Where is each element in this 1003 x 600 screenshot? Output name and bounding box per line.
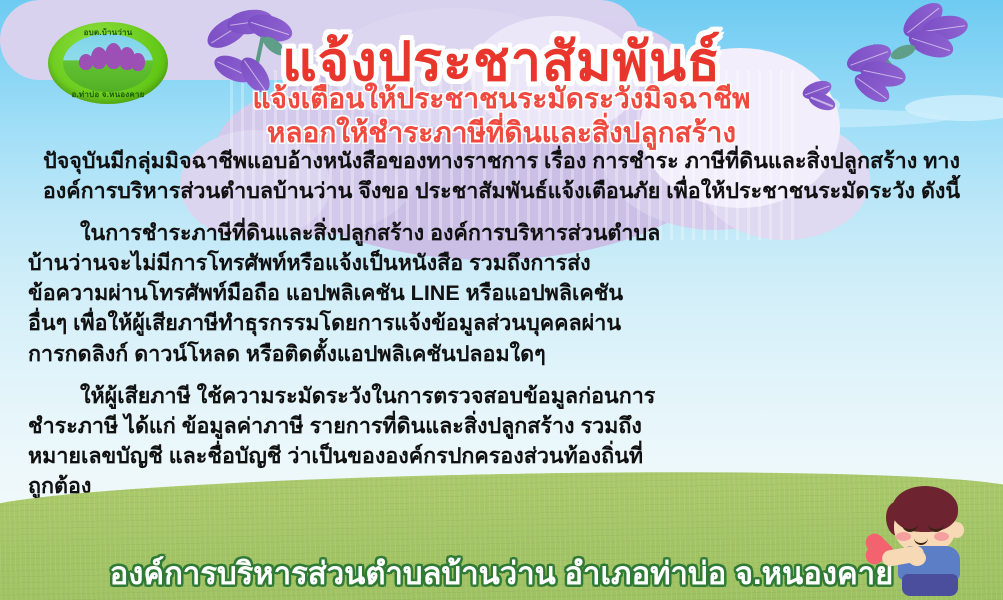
- poster-subtitle: แจ้งเตือนให้ประชาชนระมัดระวังมิจฉาชีพ หล…: [0, 82, 1003, 150]
- mascot-character: [868, 484, 996, 596]
- paragraph-2-line-5: การกดลิงก์ ดาวน์โหลด หรือติดตั้งแอปพลิเค…: [28, 339, 975, 369]
- mascot-cheek: [896, 532, 911, 541]
- paragraph-2-line-2: บ้านว่านจะไม่มีการโทรศัพท์หรือแจ้งเป็นหน…: [28, 248, 975, 278]
- paragraph-1-line-1: ปัจจุบันมีกลุ่มมิจฉาชีพแอบอ้างหนังสือของ…: [43, 149, 679, 173]
- paragraph-1: ปัจจุบันมีกลุ่มมิจฉาชีพแอบอ้างหนังสือของ…: [28, 146, 975, 206]
- paragraph-1-line-3: ประชาสัมพันธ์แจ้งเตือนภัย เพื่อให้ประชาช…: [415, 179, 960, 203]
- footer-organization-name: องค์การบริหารส่วนตำบลบ้านว่าน อำเภอท่าบ่…: [0, 548, 1003, 598]
- mascot-pants: [902, 574, 958, 596]
- subtitle-line-1: แจ้งเตือนให้ประชาชนระมัดระวังมิจฉาชีพ: [0, 82, 1003, 116]
- paragraph-2: ในการชำระภาษีที่ดินและสิ่งปลูกสร้าง องค์…: [28, 218, 975, 368]
- paragraph-3-line-2: ชำระภาษี ได้แก่ ข้อมูลค่าภาษี รายการที่ด…: [28, 411, 975, 441]
- paragraph-2-line-3: ข้อความผ่านโทรศัพท์มือถือ แอปพลิเคชัน LI…: [28, 278, 975, 308]
- paragraph-3-line-1: ให้ผู้เสียภาษี ใช้ความระมัดระวังในการตรว…: [28, 381, 975, 411]
- announcement-poster: อบต.บ้านว่าน อ.ท่าบ่อ จ.หนองคาย แจ้งประช…: [0, 0, 1003, 600]
- mascot-hand: [908, 550, 926, 566]
- paragraph-2-line-4: อื่นๆ เพื่อให้ผู้เสียภาษีทำธุรกรรมโดยการ…: [28, 308, 975, 338]
- paragraph-2-line-1: ในการชำระภาษีที่ดินและสิ่งปลูกสร้าง องค์…: [28, 218, 975, 248]
- poster-body: ปัจจุบันมีกลุ่มมิจฉาชีพแอบอ้างหนังสือของ…: [28, 146, 975, 513]
- paragraph-3-line-3: หมายเลขบัญชี และชื่อบัญชี ว่าเป็นขององค์…: [28, 441, 975, 471]
- mascot-cheek: [934, 532, 949, 541]
- mascot-ear: [950, 522, 964, 538]
